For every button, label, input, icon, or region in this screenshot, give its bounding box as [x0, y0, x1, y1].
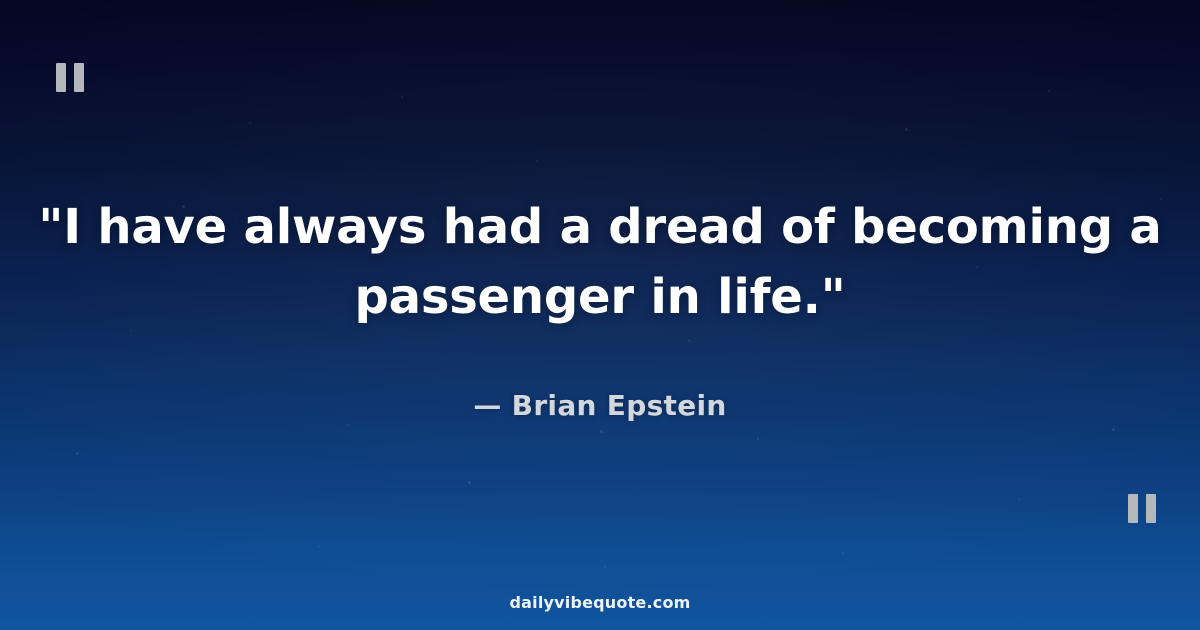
quote-attribution: — Brian Epstein — [473, 389, 726, 423]
site-footer: dailyvibequote.com — [0, 593, 1200, 612]
quote-text: "I have always had a dread of becoming a… — [25, 192, 1175, 332]
quote-line-1: "I have always had a dread of becoming a — [25, 192, 1175, 262]
quote-line-2: passenger in life." — [25, 262, 1175, 332]
quote-card: "I have always had a dread of becoming a… — [0, 0, 1200, 630]
quote-content: "I have always had a dread of becoming a… — [0, 0, 1200, 630]
